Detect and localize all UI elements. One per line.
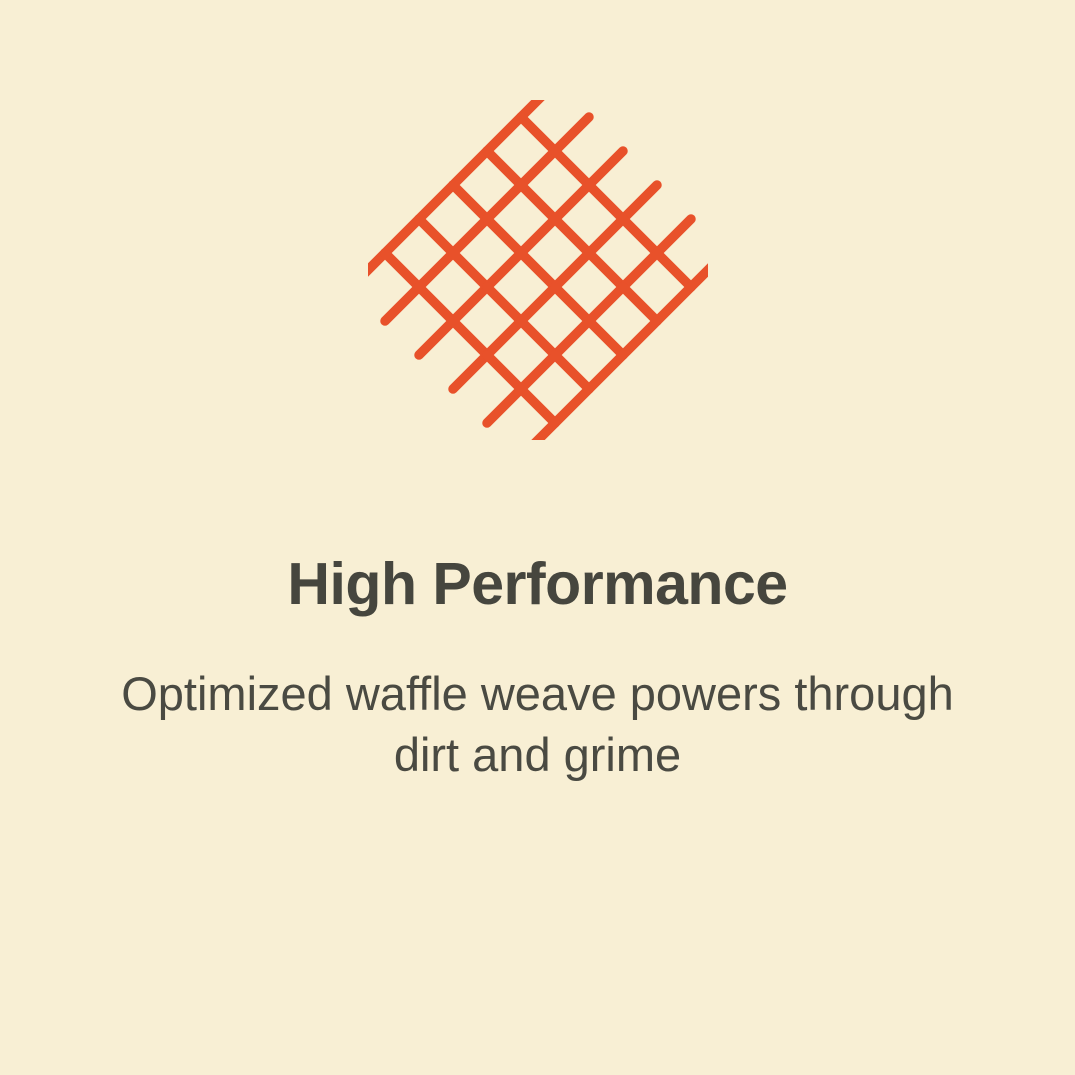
weave-stroke <box>589 151 623 185</box>
weave-stroke <box>521 117 555 151</box>
weave-stroke <box>453 253 487 287</box>
weave-stroke <box>385 253 419 287</box>
weave-stroke <box>453 185 487 219</box>
weave-stroke <box>555 185 589 219</box>
weave-stroke <box>521 287 555 321</box>
weave-stroke <box>521 100 555 117</box>
waffle-weave-icon <box>368 100 708 440</box>
feature-card: High Performance Optimized waffle weave … <box>0 0 1075 1075</box>
weave-stroke <box>589 219 623 253</box>
weave-stroke <box>521 355 555 389</box>
weave-stroke <box>368 253 385 287</box>
weave-stroke <box>487 117 521 151</box>
weave-stroke <box>385 219 419 253</box>
weave-stroke <box>487 253 521 287</box>
weave-stroke <box>555 389 589 423</box>
weave-stroke <box>555 151 589 185</box>
weave-stroke <box>419 321 453 355</box>
weave-stroke <box>555 355 589 389</box>
weave-stroke <box>487 151 521 185</box>
weave-stroke <box>589 185 623 219</box>
weave-stroke <box>453 151 487 185</box>
weave-stroke <box>589 321 623 355</box>
weave-stroke <box>453 321 487 355</box>
weave-stroke <box>487 287 521 321</box>
weave-stroke <box>419 185 453 219</box>
weave-stroke <box>487 355 521 389</box>
weave-stroke <box>555 253 589 287</box>
weave-stroke <box>521 321 555 355</box>
icon-container <box>0 0 1075 540</box>
weave-stroke <box>555 321 589 355</box>
weave-stroke <box>589 253 623 287</box>
weave-stroke <box>419 253 453 287</box>
weave-stroke <box>487 185 521 219</box>
weave-stroke <box>589 287 623 321</box>
weave-stroke <box>419 287 453 321</box>
weave-stroke <box>419 219 453 253</box>
weave-stroke <box>657 287 691 321</box>
weave-stroke <box>521 151 555 185</box>
weave-stroke <box>623 219 657 253</box>
weave-stroke <box>453 355 487 389</box>
weave-stroke <box>521 389 555 423</box>
weave-stroke <box>623 253 657 287</box>
page-subtitle: Optimized waffle weave powers through di… <box>108 663 968 785</box>
text-block: High Performance Optimized waffle weave … <box>0 552 1075 785</box>
weave-stroke <box>555 219 589 253</box>
weave-stroke <box>623 321 657 355</box>
weave-stroke <box>555 287 589 321</box>
weave-stroke <box>691 253 708 287</box>
weave-stroke <box>657 253 691 287</box>
weave-stroke <box>521 219 555 253</box>
weave-stroke <box>623 185 657 219</box>
weave-stroke <box>453 287 487 321</box>
weave-stroke <box>589 355 623 389</box>
weave-stroke <box>487 321 521 355</box>
weave-stroke <box>487 219 521 253</box>
weave-stroke <box>487 389 521 423</box>
weave-stroke <box>453 219 487 253</box>
weave-stroke <box>521 423 555 440</box>
weave-stroke <box>521 253 555 287</box>
weave-stroke <box>623 287 657 321</box>
page-title: High Performance <box>287 552 787 617</box>
weave-stroke <box>385 287 419 321</box>
weave-stroke <box>521 185 555 219</box>
weave-stroke <box>555 117 589 151</box>
weave-stroke <box>657 219 691 253</box>
